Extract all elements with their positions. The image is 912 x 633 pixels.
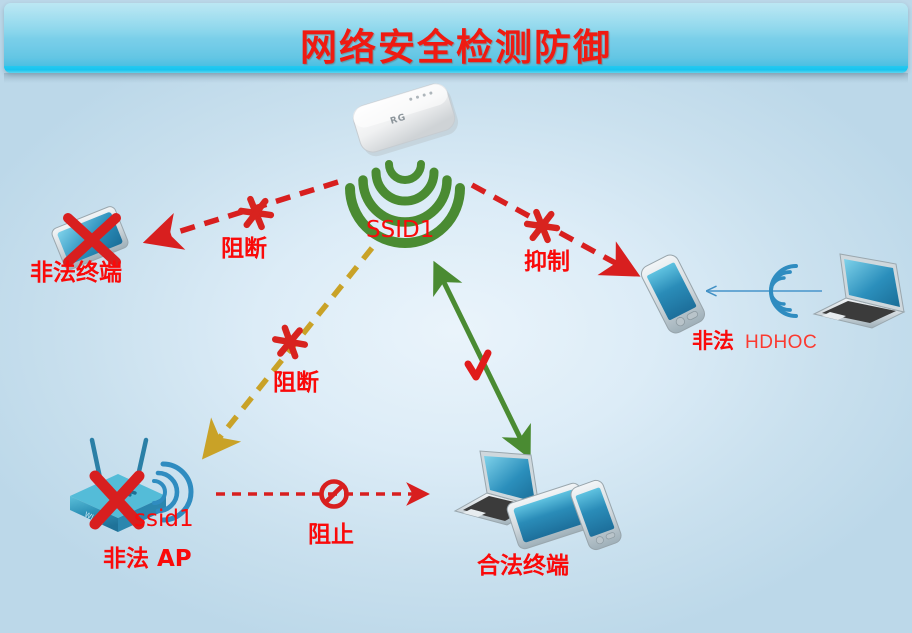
diagram-canvas: 网络安全检测防御 [0, 0, 912, 633]
smartphone-icon [638, 252, 707, 336]
rogue-terminal-label: 非法终端 [30, 262, 122, 285]
block-ap-label: 阻断 [273, 372, 319, 395]
laptop-icon [814, 254, 904, 328]
links-layer: RG [0, 0, 912, 633]
suppress-adhoc-label: 抑制 [524, 251, 570, 274]
asterisk-marker-block-terminal [241, 199, 271, 227]
rogue-ap-ssid-label: ssid1 [134, 508, 194, 531]
rogue-ap-label: 非法 AP [103, 548, 192, 571]
legit-terminals-label: 合法终端 [477, 555, 569, 578]
link-adhoc [708, 266, 822, 316]
ssid-label-central: SSID1 [366, 219, 434, 242]
adhoc-label-cn: 非法 [692, 331, 734, 352]
block-terminal-label: 阻断 [221, 238, 267, 261]
device-group-icon [455, 451, 623, 552]
adhoc-label-en: HDHOC [745, 333, 817, 352]
asterisk-marker-suppress-adhoc [527, 212, 557, 240]
prohibit-marker-prevent [322, 482, 347, 507]
prevent-label: 阻止 [308, 524, 354, 547]
